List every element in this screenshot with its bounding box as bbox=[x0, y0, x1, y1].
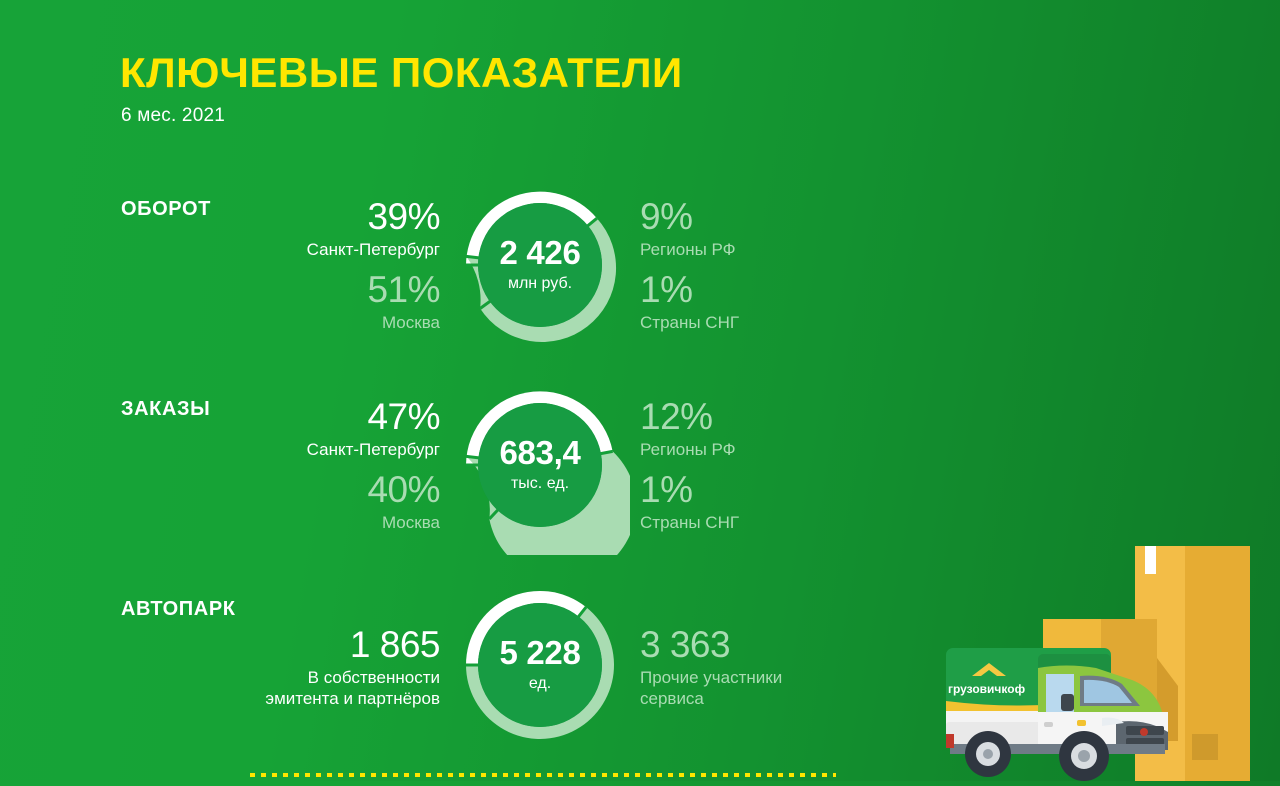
donut-center-unit: тыс. ед. bbox=[511, 474, 569, 494]
donut-center-turnover: 2 426 млн руб. bbox=[478, 203, 602, 327]
stat-cis: 1% Страны СНГ bbox=[640, 268, 870, 333]
stat-spb: 47% Санкт-Петербург bbox=[210, 395, 440, 460]
stat-owned: 1 865 В собственности эмитента и партнёр… bbox=[210, 623, 440, 709]
turnover-left-stats: 39% Санкт-Петербург 51% Москва bbox=[210, 195, 440, 333]
stat-caption: Страны СНГ bbox=[640, 312, 870, 333]
stat-moscow: 51% Москва bbox=[210, 268, 440, 333]
stat-spb: 39% Санкт-Петербург bbox=[210, 195, 440, 260]
turnover-right-stats: 9% Регионы РФ 1% Страны СНГ bbox=[640, 195, 870, 333]
stat-value: 1% bbox=[640, 268, 870, 312]
stat-caption: Санкт-Петербург bbox=[210, 439, 440, 460]
stat-value: 51% bbox=[210, 268, 440, 312]
stat-caption: Регионы РФ bbox=[640, 239, 870, 260]
fleet-left-stats: 1 865 В собственности эмитента и партнёр… bbox=[210, 623, 440, 709]
stat-value: 1% bbox=[640, 468, 870, 512]
donut-center-value: 2 426 bbox=[499, 236, 580, 270]
stat-value: 1 865 bbox=[210, 623, 440, 667]
orders-right-stats: 12% Регионы РФ 1% Страны СНГ bbox=[640, 395, 870, 533]
donut-chart-turnover: 2 426 млн руб. bbox=[450, 175, 630, 355]
orders-left-stats: 47% Санкт-Петербург 40% Москва bbox=[210, 395, 440, 533]
page-title: КЛЮЧЕВЫЕ ПОКАЗАТЕЛИ bbox=[120, 52, 683, 94]
stat-caption: Прочие участники сервиса bbox=[640, 667, 870, 709]
stat-caption: Москва bbox=[210, 512, 440, 533]
section-label-orders: ЗАКАЗЫ bbox=[121, 398, 210, 421]
section-turnover: ОБОРОТ 39% Санкт-Петербург 51% Москва bbox=[0, 175, 1280, 375]
stat-other-participants: 3 363 Прочие участники сервиса bbox=[640, 623, 870, 709]
donut-center-unit: ед. bbox=[529, 674, 551, 694]
road-dashes bbox=[250, 773, 836, 777]
section-label-turnover: ОБОРОТ bbox=[121, 198, 211, 221]
stat-value: 3 363 bbox=[640, 623, 870, 667]
donut-center-unit: млн руб. bbox=[508, 274, 572, 294]
stat-value: 47% bbox=[210, 395, 440, 439]
fleet-right-stats: 3 363 Прочие участники сервиса bbox=[640, 623, 870, 709]
stat-caption: Санкт-Петербург bbox=[210, 239, 440, 260]
stat-value: 39% bbox=[210, 195, 440, 239]
donut-center-fleet: 5 228 ед. bbox=[478, 603, 602, 727]
stat-caption: В собственности эмитента и партнёров bbox=[210, 667, 440, 709]
donut-center-orders: 683,4 тыс. ед. bbox=[478, 403, 602, 527]
truck-artwork-svg: грузовичкоф bbox=[920, 536, 1280, 781]
stat-regions: 12% Регионы РФ bbox=[640, 395, 870, 460]
donut-center-value: 5 228 bbox=[499, 636, 580, 670]
stat-caption: Москва bbox=[210, 312, 440, 333]
stat-caption: Регионы РФ bbox=[640, 439, 870, 460]
donut-chart-orders: 683,4 тыс. ед. bbox=[450, 375, 630, 555]
stat-cis: 1% Страны СНГ bbox=[640, 468, 870, 533]
stat-moscow: 40% Москва bbox=[210, 468, 440, 533]
donut-chart-fleet: 5 228 ед. bbox=[450, 575, 630, 755]
stat-value: 12% bbox=[640, 395, 870, 439]
stat-caption: Страны СНГ bbox=[640, 512, 870, 533]
section-label-fleet: АВТОПАРК bbox=[121, 598, 236, 621]
truck-illustration: грузовичкоф bbox=[920, 536, 1280, 781]
stat-value: 40% bbox=[210, 468, 440, 512]
logo-text: грузовичкоф bbox=[948, 682, 1026, 696]
donut-center-value: 683,4 bbox=[499, 436, 580, 470]
infographic-canvas: КЛЮЧЕВЫЕ ПОКАЗАТЕЛИ 6 мес. 2021 ОБОРОТ 3… bbox=[0, 0, 1280, 781]
stat-regions: 9% Регионы РФ bbox=[640, 195, 870, 260]
stat-value: 9% bbox=[640, 195, 870, 239]
page-subtitle: 6 мес. 2021 bbox=[121, 105, 225, 127]
